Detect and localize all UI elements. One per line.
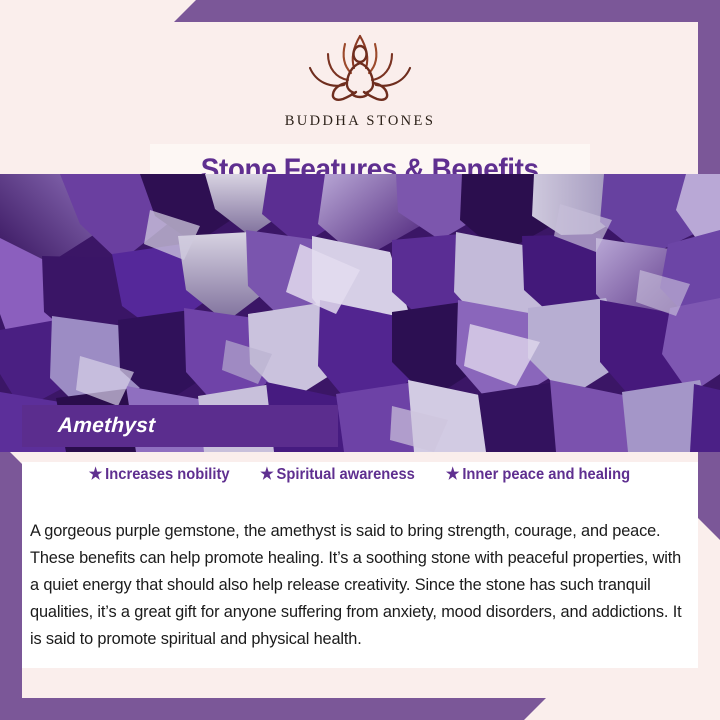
benefit-item: ★ Inner peace and healing xyxy=(446,466,630,484)
lotus-meditation-icon xyxy=(290,28,430,111)
benefit-label: Inner peace and healing xyxy=(462,466,630,484)
frame-top-band xyxy=(0,0,720,22)
benefit-item: ★ Spiritual awareness xyxy=(260,466,415,484)
star-icon: ★ xyxy=(446,467,460,483)
infographic-card: BUDDHA STONES Stone Features & Benefits xyxy=(0,0,720,720)
frame-left-band xyxy=(0,442,22,720)
stone-description: A gorgeous purple gemstone, the amethyst… xyxy=(30,517,682,652)
star-icon: ★ xyxy=(260,467,274,483)
frame-bottom-band xyxy=(0,698,720,720)
header: BUDDHA STONES Stone Features & Benefits xyxy=(22,22,698,174)
content-panel: ★ Increases nobility ★ Spiritual awarene… xyxy=(22,452,698,668)
stone-name-banner: Amethyst xyxy=(22,405,338,447)
benefit-label: Increases nobility xyxy=(106,466,230,484)
stone-name: Amethyst xyxy=(57,414,156,438)
brand-name: BUDDHA STONES xyxy=(285,113,436,130)
benefit-item: ★ Increases nobility xyxy=(89,466,230,484)
benefits-list: ★ Increases nobility ★ Spiritual awarene… xyxy=(22,466,698,484)
brand-logo: BUDDHA STONES xyxy=(22,28,698,130)
benefit-label: Spiritual awareness xyxy=(276,466,414,484)
panel-top-tint xyxy=(22,452,698,462)
star-icon: ★ xyxy=(89,467,103,483)
